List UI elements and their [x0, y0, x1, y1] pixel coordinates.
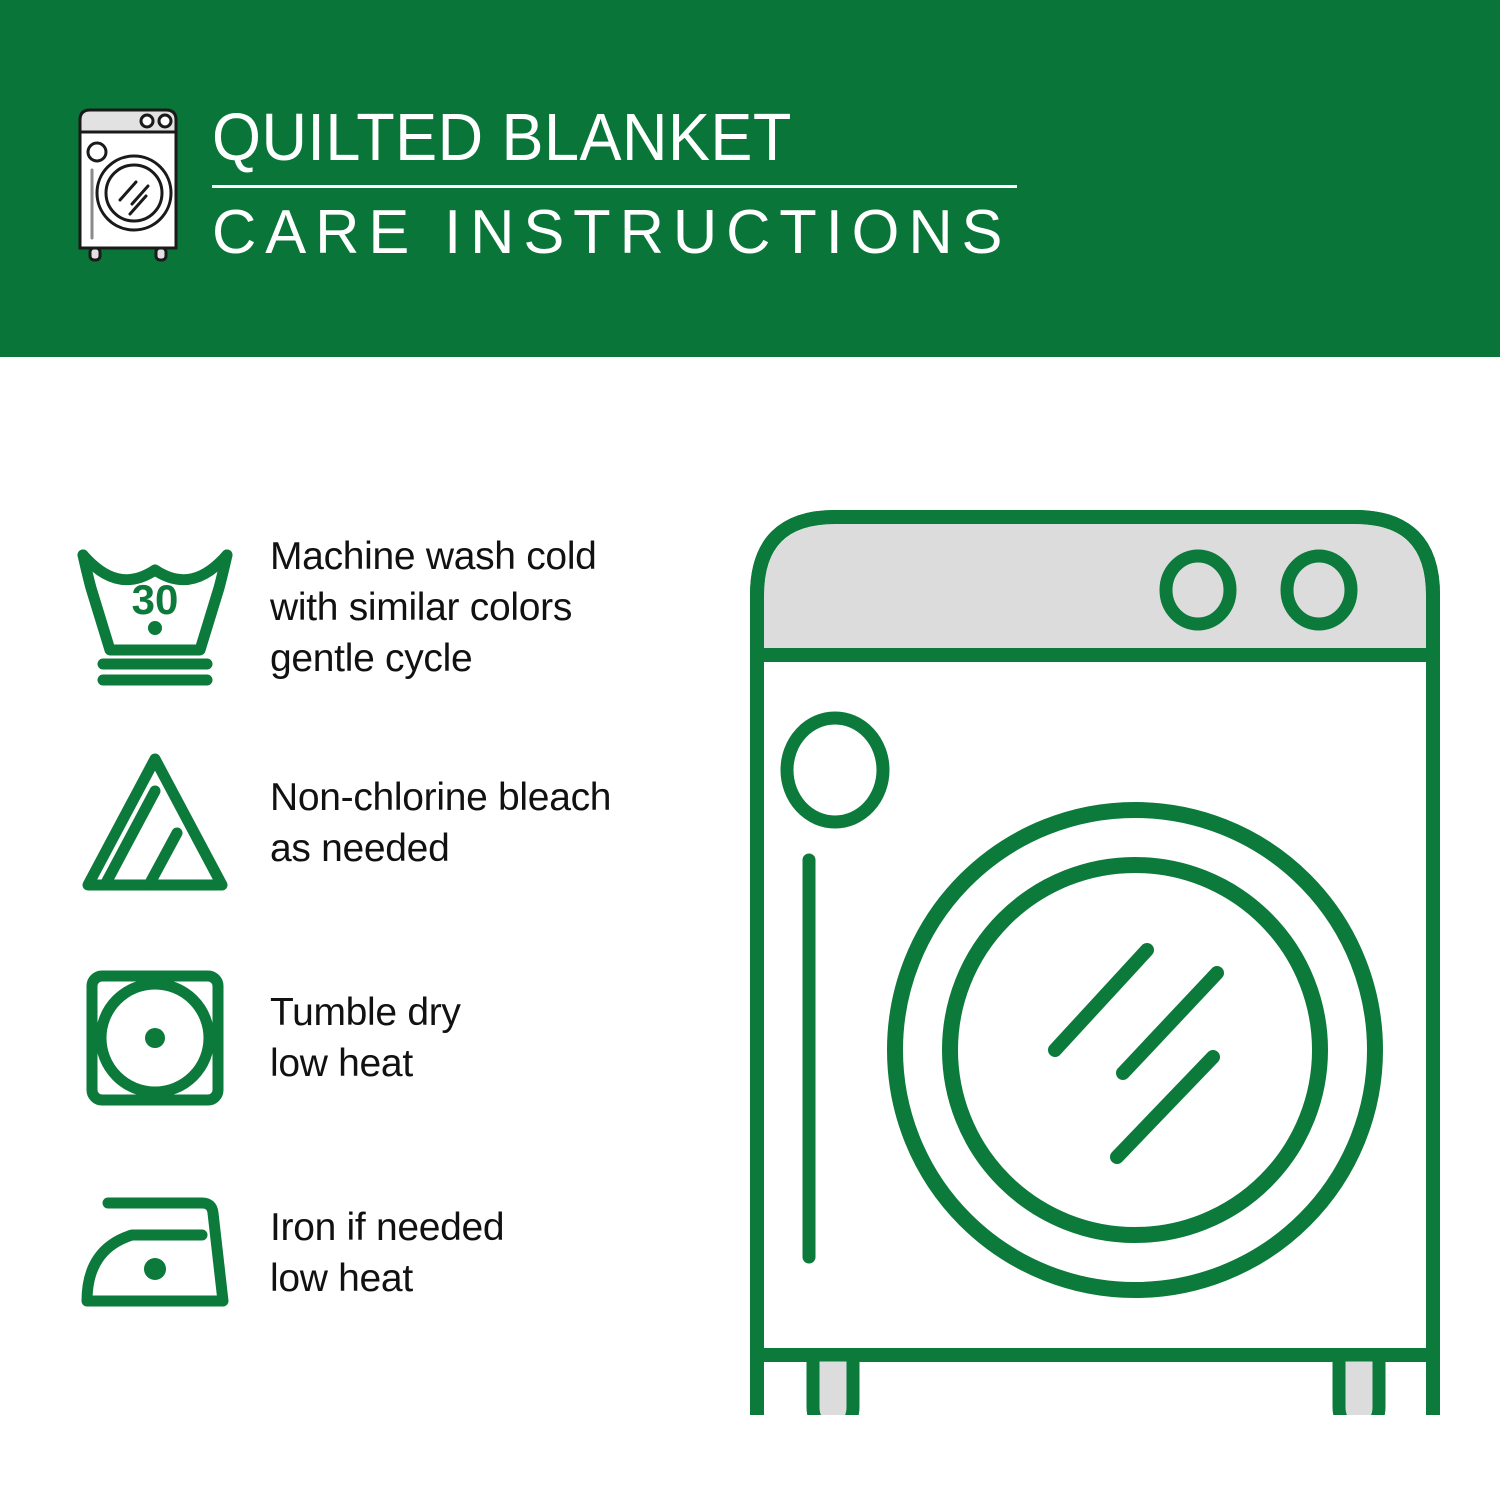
washer-leg [1339, 1355, 1379, 1415]
care-row-wash: 30 Machine wash cold with similar colors… [70, 500, 710, 715]
iron-low-heat-icon [70, 1173, 242, 1333]
care-label-bleach: Non-chlorine bleach as needed [270, 772, 611, 874]
care-label-line: gentle cycle [270, 633, 597, 684]
non-chlorine-bleach-triangle-icon [70, 743, 242, 903]
care-label-line: as needed [270, 823, 611, 874]
care-label-line: low heat [270, 1253, 504, 1304]
header-titles: QUILTED BLANKET CARE INSTRUCTIONS [212, 96, 1019, 269]
care-label-line: with similar colors [270, 582, 597, 633]
care-instructions-page: QUILTED BLANKET CARE INSTRUCTIONS [0, 0, 1500, 1500]
washer-leg [813, 1355, 853, 1415]
care-row-bleach: Non-chlorine bleach as needed [70, 715, 710, 930]
page-title: QUILTED BLANKET [212, 100, 971, 176]
care-instruction-list: 30 Machine wash cold with similar colors… [70, 500, 710, 1360]
drum-inner-circle [950, 865, 1320, 1235]
front-load-washing-machine-illustration [735, 495, 1455, 1415]
wash-tub-30-gentle-icon: 30 [70, 528, 242, 688]
care-label-line: Tumble dry [270, 987, 461, 1038]
page-subtitle: CARE INSTRUCTIONS [212, 197, 1011, 269]
washer-knob [1287, 556, 1351, 624]
care-row-tumble-dry: Tumble dry low heat [70, 930, 710, 1145]
title-divider [212, 185, 1017, 188]
care-label-line: Machine wash cold [270, 531, 597, 582]
detergent-dispenser-icon [787, 718, 883, 822]
page-header: QUILTED BLANKET CARE INSTRUCTIONS [0, 0, 1500, 357]
washer-knob [1166, 556, 1230, 624]
care-row-iron: Iron if needed low heat [70, 1145, 710, 1360]
washing-machine-icon [62, 96, 194, 264]
care-label-line: low heat [270, 1038, 461, 1089]
header-content: QUILTED BLANKET CARE INSTRUCTIONS [62, 96, 1019, 269]
svg-text:30: 30 [132, 576, 179, 623]
care-label-wash: Machine wash cold with similar colors ge… [270, 531, 597, 684]
care-label-line: Iron if needed [270, 1202, 504, 1253]
tumble-dry-low-icon [70, 958, 242, 1118]
care-label-line: Non-chlorine bleach [270, 772, 611, 823]
care-label-iron: Iron if needed low heat [270, 1202, 504, 1304]
care-label-tumble-dry: Tumble dry low heat [270, 987, 461, 1089]
